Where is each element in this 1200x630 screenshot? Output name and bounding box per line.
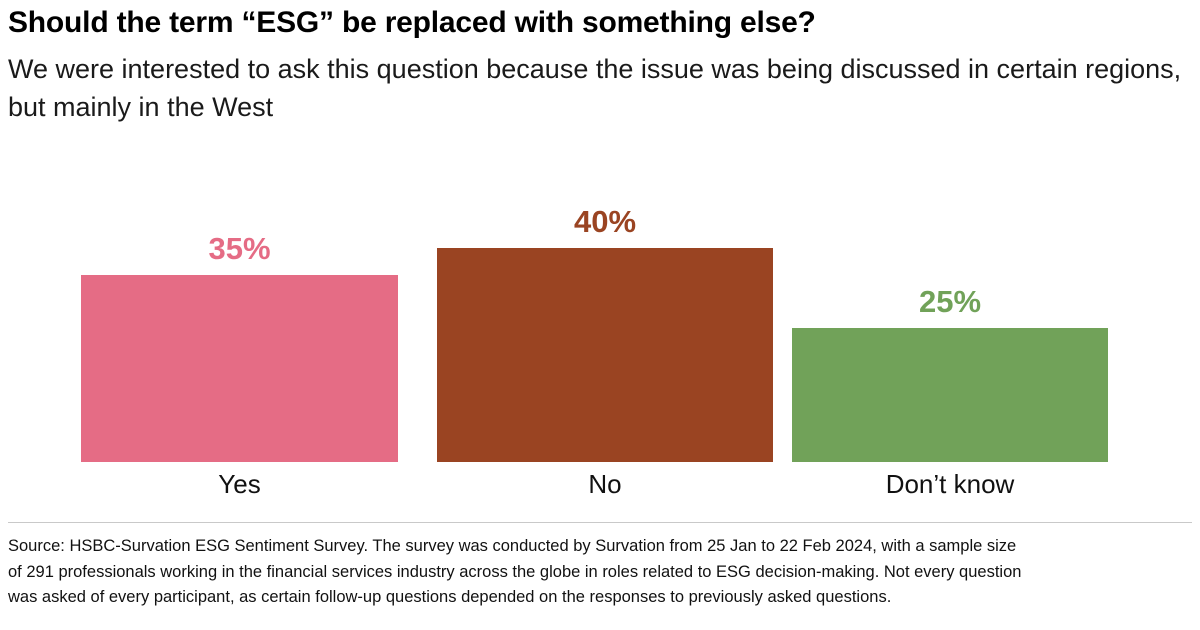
source-line-1: Source: HSBC-Survation ESG Sentiment Sur… (8, 534, 1188, 560)
bar-group: 40% (437, 160, 773, 462)
chart-header: Should the term “ESG” be replaced with s… (8, 2, 1192, 126)
bar-value-label: 40% (437, 204, 773, 240)
bar-don-t-know[interactable] (792, 328, 1108, 462)
bar-no[interactable] (437, 248, 773, 462)
bar-chart: 35%40%25% YesNoDon’t know (0, 160, 1200, 510)
bar-group: 25% (792, 160, 1108, 462)
bar-value-label: 35% (81, 231, 398, 267)
category-label: No (437, 468, 773, 500)
chart-plot-area: 35%40%25% (0, 160, 1200, 462)
bar-group: 35% (81, 160, 398, 462)
bar-value-label: 25% (792, 284, 1108, 320)
footer-divider (8, 522, 1192, 523)
page-subtitle: We were interested to ask this question … (8, 50, 1188, 126)
page-title: Should the term “ESG” be replaced with s… (8, 2, 1192, 44)
category-label: Don’t know (792, 468, 1108, 500)
source-line-2: of 291 professionals working in the fina… (8, 560, 1188, 586)
chart-page: Should the term “ESG” be replaced with s… (0, 0, 1200, 630)
source-line-3: was asked of every participant, as certa… (8, 585, 1188, 611)
source-note: Source: HSBC-Survation ESG Sentiment Sur… (8, 534, 1188, 611)
bar-yes[interactable] (81, 275, 398, 462)
category-label: Yes (81, 468, 398, 500)
